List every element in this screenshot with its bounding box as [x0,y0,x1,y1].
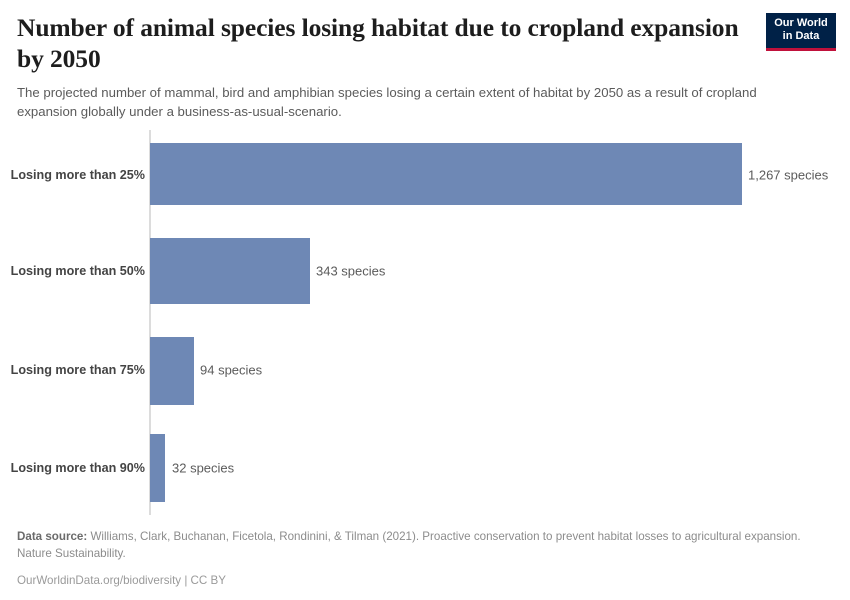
bar[interactable] [150,337,194,405]
bar-value-label: 32 species [172,461,234,476]
category-label: Losing more than 25% [11,168,145,182]
bar-value-label: 1,267 species [748,168,828,183]
page-title: Number of animal species losing habitat … [17,12,757,74]
category-label: Losing more than 50% [11,264,145,278]
logo-line-2: in Data [771,30,831,43]
category-label: Losing more than 90% [11,461,145,475]
bar-value-label: 94 species [200,363,262,378]
data-source: Data source: Williams, Clark, Buchanan, … [17,528,817,563]
license-line[interactable]: OurWorldinData.org/biodiversity | CC BY [17,572,817,589]
data-source-text: Williams, Clark, Buchanan, Ficetola, Ron… [17,530,801,560]
chart-subtitle: The projected number of mammal, bird and… [17,84,757,121]
chart-container: Number of animal species losing habitat … [0,0,850,600]
bar[interactable] [150,434,165,502]
chart-header: Number of animal species losing habitat … [17,12,757,122]
logo-line-1: Our World [771,17,831,30]
our-world-in-data-logo[interactable]: Our World in Data [766,13,836,51]
chart-footer: Data source: Williams, Clark, Buchanan, … [17,528,817,589]
bar-value-label: 343 species [316,264,385,279]
plot-area: Losing more than 25% 1,267 species Losin… [0,130,850,515]
bar[interactable] [150,238,310,304]
data-source-label: Data source: [17,530,87,543]
bar[interactable] [150,143,742,205]
category-label: Losing more than 75% [11,363,145,377]
